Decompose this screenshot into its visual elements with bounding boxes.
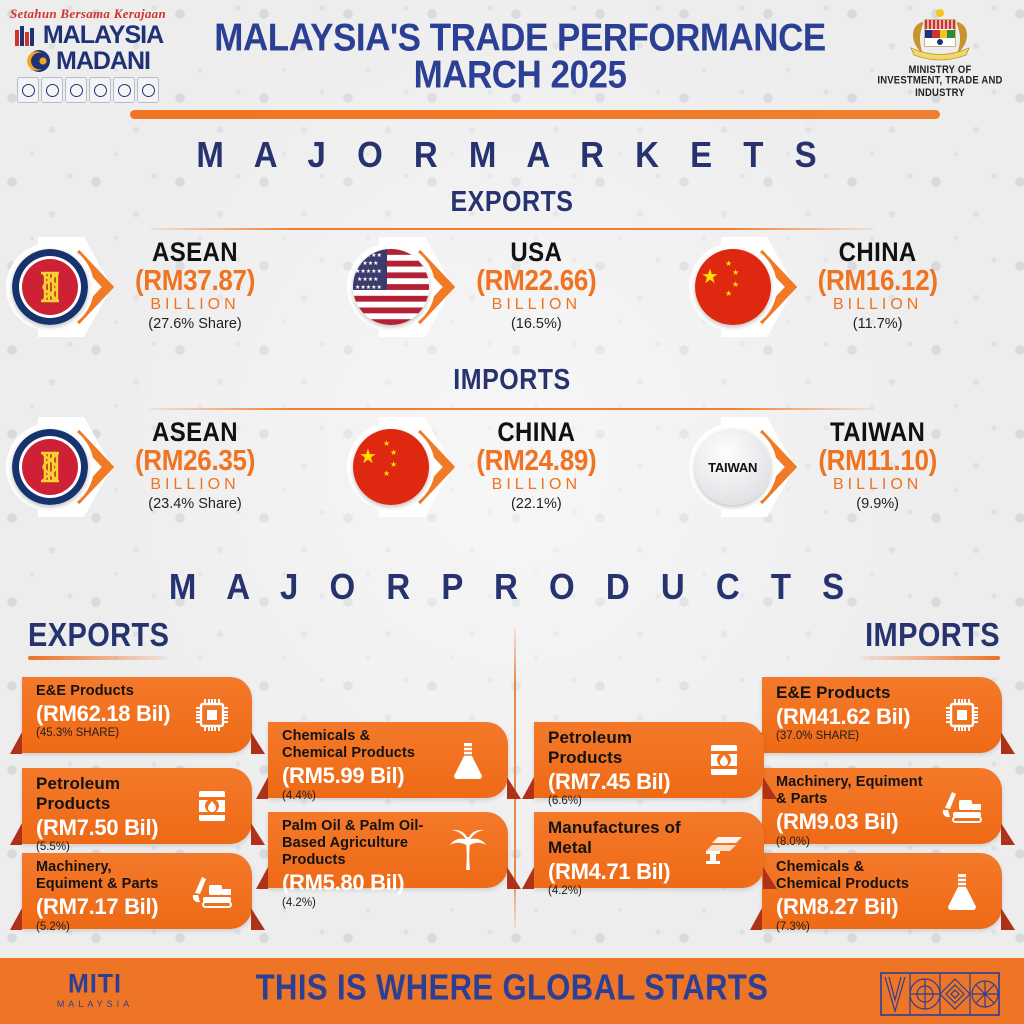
market-badge: ★ ★★ ★★ (341, 415, 459, 519)
ministry-line2: INVESTMENT, TRADE AND INDUSTRY (870, 75, 1010, 100)
products-exports-underline (28, 656, 168, 660)
madani-value-icon-3 (65, 77, 87, 103)
ministry-logo: MINISTRY OF INVESTMENT, TRADE AND INDUST… (870, 8, 1010, 99)
ribbon-tail-left (750, 908, 762, 930)
product-percent: (8.0%) (776, 836, 928, 850)
product-value: (RM8.27 Bil) (776, 894, 928, 919)
market-item: ASEAN (RM26.35) BILLION (23.4% Share) (0, 412, 341, 522)
market-share: (11.7%) (803, 315, 953, 334)
product-card: Manufactures of Metal (RM4.71 Bil) (4.2%… (534, 812, 764, 888)
major-products-title: M A J O R P R O D U C T S (0, 566, 1024, 608)
product-card: Chemicals & Chemical Products (RM8.27 Bi… (762, 853, 1002, 929)
market-share: (27.6% Share) (120, 315, 270, 334)
product-card-text: Petroleum Products (RM7.50 Bil) (5.5%) (36, 774, 178, 855)
malaysia-madani-logo: Setahun Bersama Kerajaan MALAYSIA MADANI (8, 4, 168, 104)
markets-exports-row: ASEAN (RM37.87) BILLION (27.6% Share) (0, 232, 1024, 342)
header: Setahun Bersama Kerajaan MALAYSIA MADANI (0, 0, 1024, 118)
product-name: E&E Products (36, 683, 178, 700)
infographic-page: Setahun Bersama Kerajaan MALAYSIA MADANI (0, 0, 1024, 1024)
ribbon-tail-right (251, 732, 265, 754)
product-percent: (37.0% SHARE) (776, 730, 928, 744)
ribbon-tail-right (251, 823, 265, 845)
ribbon-tail-left (256, 777, 268, 799)
market-share: (23.4% Share) (120, 495, 270, 514)
product-card-text: Chemicals & Chemical Products (RM8.27 Bi… (776, 859, 928, 934)
madani-value-icon-1 (17, 77, 39, 103)
product-card: E&E Products (RM41.62 Bil) (37.0% SHARE) (762, 677, 1002, 753)
product-value: (RM7.50 Bil) (36, 815, 178, 840)
palm-tree-icon (440, 824, 496, 876)
svg-text:★: ★ (732, 268, 739, 277)
product-percent: (4.2%) (548, 885, 690, 899)
product-value: (RM9.03 Bil) (776, 809, 928, 834)
markets-imports-divider (150, 408, 874, 410)
taiwan-label-text: TAIWAN (708, 460, 757, 475)
market-unit: BILLION (803, 475, 953, 494)
market-value: (RM11.10) (803, 444, 953, 476)
market-badge (0, 415, 118, 519)
market-unit: BILLION (461, 295, 611, 314)
market-share: (16.5%) (461, 315, 611, 334)
ribbon-tail-right (1001, 732, 1015, 754)
footer-tagline: THIS IS WHERE GLOBAL STARTS (0, 967, 1024, 1009)
market-text: CHINA (RM16.12) BILLION (11.7%) (803, 240, 953, 333)
product-name: Machinery, Equiment & Parts (36, 859, 178, 893)
market-value: (RM26.35) (120, 444, 270, 476)
product-name: Chemicals & Chemical Products (282, 728, 434, 762)
product-name: Machinery, Equiment & Parts (776, 774, 928, 808)
product-name: Petroleum Products (548, 728, 690, 768)
ribbon-tail-left (10, 732, 22, 754)
product-card: E&E Products (RM62.18 Bil) (45.3% SHARE) (22, 677, 252, 753)
product-name: Petroleum Products (36, 774, 178, 814)
market-text: CHINA (RM24.89) BILLION (22.1%) (461, 420, 611, 513)
product-percent: (4.4%) (282, 790, 434, 804)
svg-text:★: ★ (359, 446, 377, 468)
product-value: (RM5.99 Bil) (282, 763, 434, 788)
vision-2030-logo-icon (880, 972, 1000, 1016)
microchip-icon (934, 689, 990, 741)
major-markets-title: M A J O R M A R K E T S (0, 134, 1024, 176)
market-item: TAIWAN TAIWAN (RM11.10) BILLION (9.9%) (683, 412, 1024, 522)
product-card: Chemicals & Chemical Products (RM5.99 Bi… (268, 722, 508, 798)
china-flag-icon: ★ ★★ ★★ (695, 249, 771, 325)
market-badge: TAIWAN (683, 415, 801, 519)
ribbon-tail-left (522, 867, 534, 889)
markets-exports-divider (150, 228, 874, 230)
market-value: (RM24.89) (461, 444, 611, 476)
svg-text:★: ★ (725, 289, 732, 298)
madani-crescent-star-icon (26, 48, 52, 74)
madani-text-madani: MADANI (56, 50, 150, 73)
product-card-text: Manufactures of Metal (RM4.71 Bil) (4.2%… (548, 818, 690, 899)
flask-icon (440, 734, 496, 786)
madani-tagline: Setahun Bersama Kerajaan (8, 6, 168, 22)
market-value: (RM37.87) (120, 264, 270, 296)
market-value: (RM16.12) (803, 264, 953, 296)
market-value: (RM22.66) (461, 264, 611, 296)
product-percent: (6.6%) (548, 795, 690, 809)
product-name: Manufactures of Metal (548, 818, 690, 858)
product-value: (RM41.62 Bil) (776, 704, 928, 729)
madani-wordmark-line2: MADANI (8, 48, 168, 74)
product-value: (RM62.18 Bil) (36, 701, 178, 726)
ribbon-tail-right (1001, 908, 1015, 930)
page-title: MALAYSIA'S TRADE PERFORMANCE MARCH 2025 (180, 18, 860, 92)
svg-text:★★★★★: ★★★★★ (355, 284, 382, 291)
madani-values-icons (8, 77, 168, 103)
product-value: (RM4.71 Bil) (548, 859, 690, 884)
madani-building-icon (13, 22, 39, 48)
product-name: Chemicals & Chemical Products (776, 859, 928, 893)
product-card-text: Machinery, Equiment & Parts (RM7.17 Bil)… (36, 859, 178, 934)
svg-text:★★★★: ★★★★ (357, 276, 379, 283)
madani-text-malaysia: MALAYSIA (43, 24, 163, 47)
market-item: ★ ★★ ★★ CHINA (RM24.89) BILLION (22.1%) (341, 412, 682, 522)
madani-value-icon-2 (41, 77, 63, 103)
oil-barrel-icon (184, 780, 240, 832)
market-text: ASEAN (RM26.35) BILLION (23.4% Share) (120, 420, 270, 513)
metal-beam-icon (696, 824, 752, 876)
taiwan-label-icon: TAIWAN (695, 429, 771, 505)
product-card: Petroleum Products (RM7.50 Bil) (5.5%) (22, 768, 252, 844)
market-item: ★★★★★★★★★ ★★★★★★★★★ ★★★★★ USA (RM22.66) … (341, 232, 682, 342)
market-unit: BILLION (120, 475, 270, 494)
products-exports-label: EXPORTS (28, 618, 169, 656)
markets-imports-row: ASEAN (RM26.35) BILLION (23.4% Share) ★ (0, 412, 1024, 522)
market-unit: BILLION (461, 475, 611, 494)
markets-imports-label: IMPORTS (0, 364, 1024, 397)
excavator-icon (184, 865, 240, 917)
product-card-text: Petroleum Products (RM7.45 Bil) (6.6%) (548, 728, 690, 809)
market-item: ★ ★★ ★★ CHINA (RM16.12) BILLION (11.7%) (683, 232, 1024, 342)
madani-value-icon-5 (113, 77, 135, 103)
product-percent: (45.3% SHARE) (36, 727, 178, 741)
header-divider-bar (130, 110, 940, 119)
product-percent: (4.2%) (282, 897, 434, 911)
market-unit: BILLION (120, 295, 270, 314)
product-value: (RM7.45 Bil) (548, 769, 690, 794)
product-card-text: E&E Products (RM62.18 Bil) (45.3% SHARE) (36, 683, 178, 741)
product-card: Palm Oil & Palm Oil-Based Agriculture Pr… (268, 812, 508, 888)
product-card-text: Machinery, Equiment & Parts (RM9.03 Bil)… (776, 774, 928, 849)
product-percent: (7.3%) (776, 921, 928, 935)
market-unit: BILLION (803, 295, 953, 314)
product-card: Machinery, Equiment & Parts (RM7.17 Bil)… (22, 853, 252, 929)
oil-barrel-icon (696, 734, 752, 786)
ribbon-tail-left (10, 908, 22, 930)
market-badge (0, 235, 118, 339)
products-imports-underline (860, 656, 1000, 660)
market-text: ASEAN (RM37.87) BILLION (27.6% Share) (120, 240, 270, 333)
page-title-line2: MARCH 2025 (180, 55, 860, 96)
china-flag-icon: ★ ★★ ★★ (353, 429, 429, 505)
madani-value-icon-4 (89, 77, 111, 103)
asean-flag-icon (12, 249, 88, 325)
svg-text:★: ★ (390, 460, 397, 469)
product-card-text: Chemicals & Chemical Products (RM5.99 Bi… (282, 728, 434, 803)
product-percent: (5.2%) (36, 921, 178, 935)
market-text: TAIWAN (RM11.10) BILLION (9.9%) (803, 420, 953, 513)
madani-wordmark-line1: MALAYSIA (8, 22, 168, 48)
products-imports-label: IMPORTS (865, 618, 1000, 656)
svg-text:★: ★ (701, 266, 719, 288)
excavator-icon (934, 780, 990, 832)
ribbon-tail-left (256, 867, 268, 889)
ribbon-tail-left (10, 823, 22, 845)
ribbon-tail-right (1001, 823, 1015, 845)
svg-text:★★★★★: ★★★★★ (355, 268, 382, 275)
markets-exports-label: EXPORTS (0, 186, 1024, 219)
product-value: (RM7.17 Bil) (36, 894, 178, 919)
flask-icon (934, 865, 990, 917)
market-share: (22.1%) (461, 495, 611, 514)
product-value: (RM5.80 Bil) (282, 870, 434, 895)
svg-text:★: ★ (383, 439, 390, 448)
microchip-icon (184, 689, 240, 741)
product-card: Machinery, Equiment & Parts (RM9.03 Bil)… (762, 768, 1002, 844)
product-name: Palm Oil & Palm Oil-Based Agriculture Pr… (282, 818, 434, 869)
market-share: (9.9%) (803, 495, 953, 514)
svg-text:★: ★ (383, 469, 390, 478)
product-card-text: Palm Oil & Palm Oil-Based Agriculture Pr… (282, 818, 434, 910)
ribbon-tail-right (251, 908, 265, 930)
usa-flag-icon: ★★★★★★★★★ ★★★★★★★★★ ★★★★★ (353, 249, 429, 325)
product-card: Petroleum Products (RM7.45 Bil) (6.6%) (534, 722, 764, 798)
product-name: E&E Products (776, 683, 928, 703)
market-badge: ★★★★★★★★★ ★★★★★★★★★ ★★★★★ (341, 235, 459, 339)
product-card-text: E&E Products (RM41.62 Bil) (37.0% SHARE) (776, 683, 928, 744)
market-item: ASEAN (RM37.87) BILLION (27.6% Share) (0, 232, 341, 342)
malaysia-coat-of-arms-icon (897, 8, 983, 66)
ribbon-tail-left (522, 777, 534, 799)
svg-text:★: ★ (732, 280, 739, 289)
svg-text:★: ★ (390, 448, 397, 457)
market-badge: ★ ★★ ★★ (683, 235, 801, 339)
svg-text:★: ★ (725, 259, 732, 268)
madani-value-icon-6 (137, 77, 159, 103)
market-text: USA (RM22.66) BILLION (16.5%) (461, 240, 611, 333)
asean-flag-icon (12, 429, 88, 505)
